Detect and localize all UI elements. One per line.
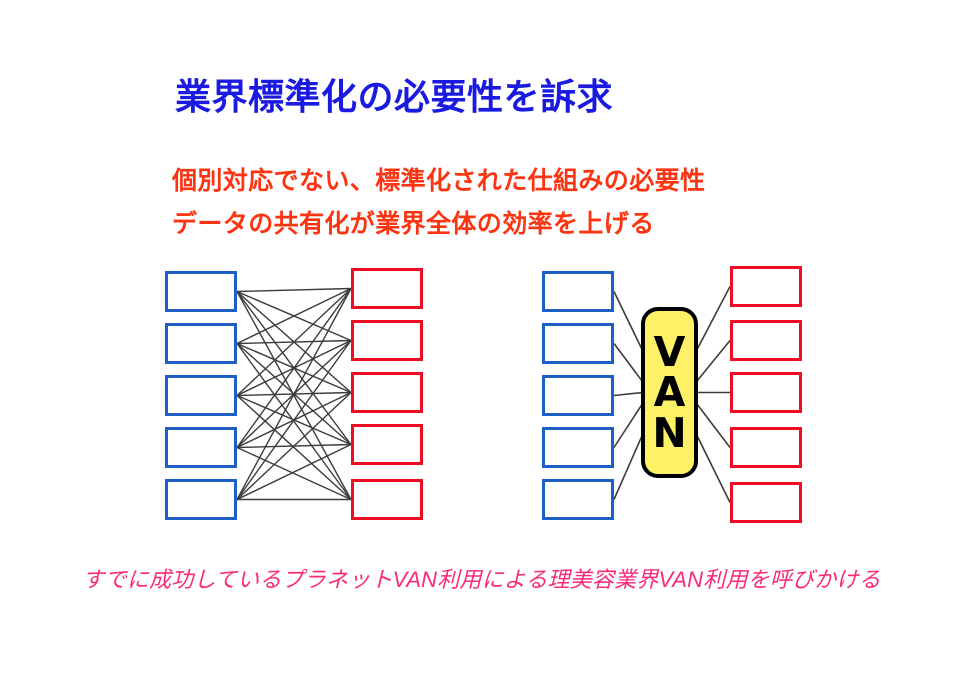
hub-left-node-1[interactable]: [542, 271, 614, 312]
mesh-left-node-1[interactable]: [165, 271, 237, 312]
hub-right-node-5[interactable]: [730, 482, 802, 523]
van-hub-box[interactable]: V A N: [641, 307, 698, 478]
van-letter-a: A: [654, 372, 686, 413]
mesh-left-node-4[interactable]: [165, 427, 237, 468]
hub-left-node-5[interactable]: [542, 479, 614, 520]
hub-right-node-2[interactable]: [730, 320, 802, 361]
van-letter-v: V: [654, 332, 686, 373]
slide-canvas: 業界標準化の必要性を訴求 個別対応でない、標準化された仕組みの必要性 データの共…: [0, 0, 963, 680]
bottom-caption: すでに成功しているプラネットVAN利用による理美容業界VAN利用を呼びかける: [0, 562, 963, 594]
hub-right-node-1[interactable]: [730, 266, 802, 307]
hub-left-node-3[interactable]: [542, 375, 614, 416]
van-letter-n: N: [652, 413, 686, 454]
mesh-left-node-2[interactable]: [165, 323, 237, 364]
hub-right-node-4[interactable]: [730, 427, 802, 468]
mesh-right-node-1[interactable]: [351, 268, 423, 309]
mesh-right-node-4[interactable]: [351, 424, 423, 465]
mesh-left-node-3[interactable]: [165, 375, 237, 416]
mesh-right-node-3[interactable]: [351, 372, 423, 413]
hub-right-node-3[interactable]: [730, 372, 802, 413]
mesh-right-node-2[interactable]: [351, 320, 423, 361]
hub-left-node-2[interactable]: [542, 323, 614, 364]
hub-left-node-4[interactable]: [542, 427, 614, 468]
mesh-right-node-5[interactable]: [351, 479, 423, 520]
mesh-left-node-5[interactable]: [165, 479, 237, 520]
